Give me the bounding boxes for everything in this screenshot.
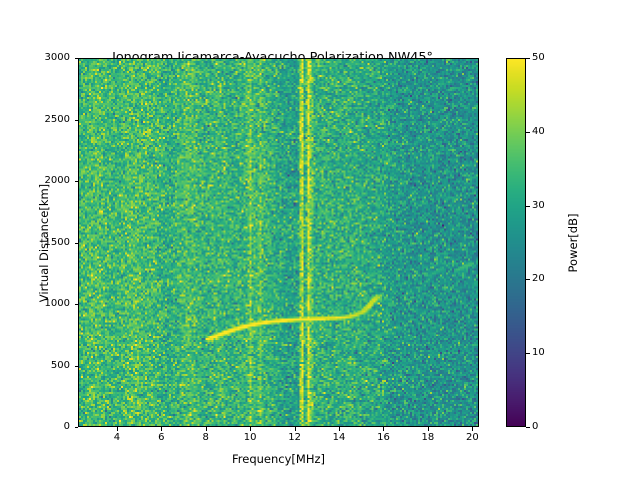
x-tick-label: 14 (319, 432, 359, 444)
colorbar-tick-mark (526, 132, 530, 133)
colorbar-tick-label: 0 (532, 421, 572, 433)
x-tick-label: 6 (141, 432, 181, 444)
x-tick-mark (383, 427, 384, 431)
colorbar-canvas (507, 59, 526, 427)
x-tick-mark (250, 427, 251, 431)
x-axis-label: Frequency[MHz] (78, 452, 479, 466)
x-tick-label: 10 (230, 432, 270, 444)
y-tick-label: 0 (24, 421, 70, 433)
y-tick-mark (75, 181, 79, 182)
y-tick-mark (75, 58, 79, 59)
ionogram-figure: Ionogram Jicamarca-Ayacucho Polarization… (0, 0, 640, 480)
y-tick-mark (75, 304, 79, 305)
x-tick-label: 16 (363, 432, 403, 444)
x-tick-label: 12 (275, 432, 315, 444)
x-tick-label: 4 (97, 432, 137, 444)
colorbar-label: Power[dB] (566, 118, 580, 368)
y-tick-mark (75, 427, 79, 428)
colorbar-tick-mark (526, 206, 530, 207)
x-tick-mark (339, 427, 340, 431)
colorbar-tick-mark (526, 353, 530, 354)
x-tick-label: 8 (186, 432, 226, 444)
x-tick-mark (295, 427, 296, 431)
y-tick-label: 3000 (24, 52, 70, 64)
colorbar-tick-mark (526, 58, 530, 59)
colorbar-tick-mark (526, 427, 530, 428)
y-tick-mark (75, 243, 79, 244)
colorbar (506, 58, 526, 427)
ionogram-heatmap-canvas (79, 59, 479, 427)
x-tick-label: 20 (452, 432, 492, 444)
y-axis-label: Virtual Distance[km] (37, 118, 51, 368)
ionogram-plot-area (78, 58, 479, 427)
x-tick-label: 18 (408, 432, 448, 444)
y-tick-mark (75, 366, 79, 367)
x-tick-mark (206, 427, 207, 431)
colorbar-tick-label: 50 (532, 52, 572, 64)
x-tick-mark (117, 427, 118, 431)
x-tick-mark (472, 427, 473, 431)
x-tick-mark (161, 427, 162, 431)
x-tick-mark (428, 427, 429, 431)
y-tick-mark (75, 120, 79, 121)
colorbar-tick-mark (526, 279, 530, 280)
